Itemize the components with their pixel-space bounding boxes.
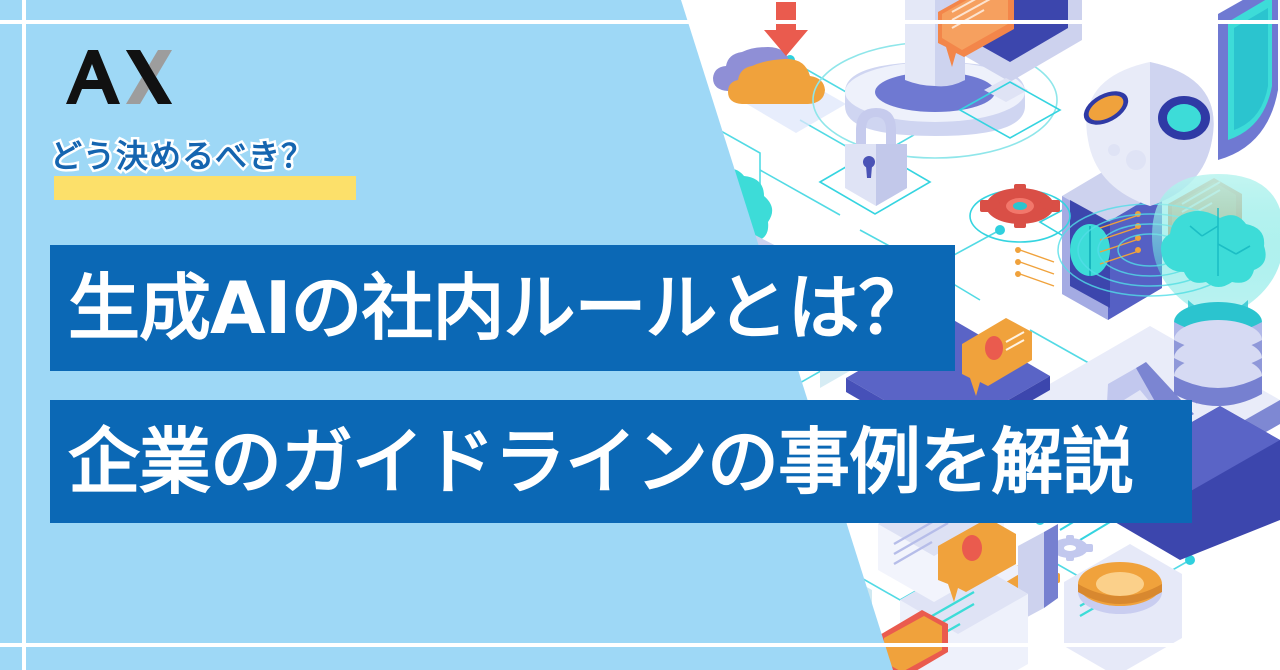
title-line-1: 生成AIの社内ルールとは？	[50, 272, 930, 344]
bottom-rule-line	[0, 643, 1280, 647]
ax-logo[interactable]	[66, 50, 172, 106]
top-rule-line	[0, 20, 1280, 24]
title-band-2: 企業のガイドラインの事例を解説	[50, 400, 1192, 523]
banner-canvas: どう決めるべき？ 生成AIの社内ルールとは？ 企業のガイドラインの事例を解説	[0, 0, 1280, 670]
coin-stack-icon	[1078, 562, 1162, 614]
kicker-text: どう決めるべき？	[50, 140, 314, 172]
kicker-highlight-bar	[54, 176, 356, 200]
title-band-1: 生成AIの社内ルールとは？	[50, 245, 955, 371]
kicker-block: どう決めるべき？	[50, 140, 314, 202]
left-vertical-rule-line	[22, 0, 26, 670]
title-line-2: 企業のガイドラインの事例を解説	[50, 426, 1133, 498]
database-stack-icon	[1174, 302, 1262, 406]
